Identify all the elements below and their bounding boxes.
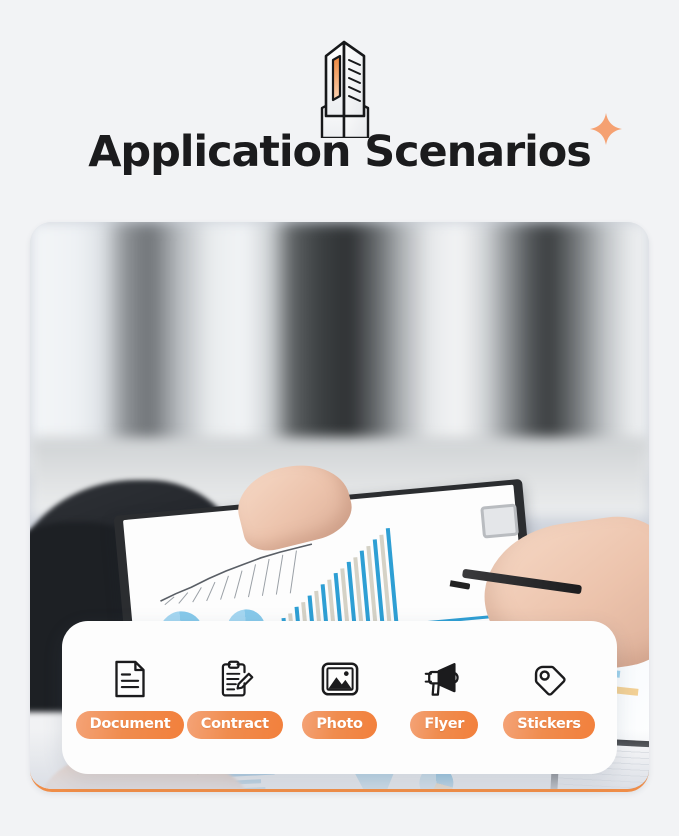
header: Application Scenarios — [0, 0, 679, 208]
megaphone-icon — [424, 656, 464, 702]
feature-category-card: Document Contract — [62, 621, 617, 774]
clipboard-metal-clip — [480, 503, 519, 538]
feature-label-contract: Contract — [187, 711, 283, 739]
tag-icon — [530, 656, 568, 702]
feature-label-photo: Photo — [302, 711, 376, 739]
feature-label-stickers: Stickers — [503, 711, 594, 739]
sparkle-icon — [589, 112, 623, 146]
feature-item-document[interactable]: Document — [78, 656, 182, 739]
clipboard-pen-icon — [216, 656, 254, 702]
building-icon — [292, 38, 396, 138]
feature-item-photo[interactable]: Photo — [288, 656, 392, 739]
image-icon — [320, 656, 360, 702]
feature-label-document: Document — [76, 711, 185, 739]
feature-item-contract[interactable]: Contract — [183, 656, 287, 739]
feature-item-stickers[interactable]: Stickers — [497, 656, 601, 739]
feature-label-flyer: Flyer — [410, 711, 478, 739]
page-title: Application Scenarios — [88, 127, 590, 177]
office-background — [30, 222, 649, 472]
feature-item-flyer[interactable]: Flyer — [392, 656, 496, 739]
document-icon — [112, 656, 148, 702]
title-row: Application Scenarios — [0, 126, 679, 178]
